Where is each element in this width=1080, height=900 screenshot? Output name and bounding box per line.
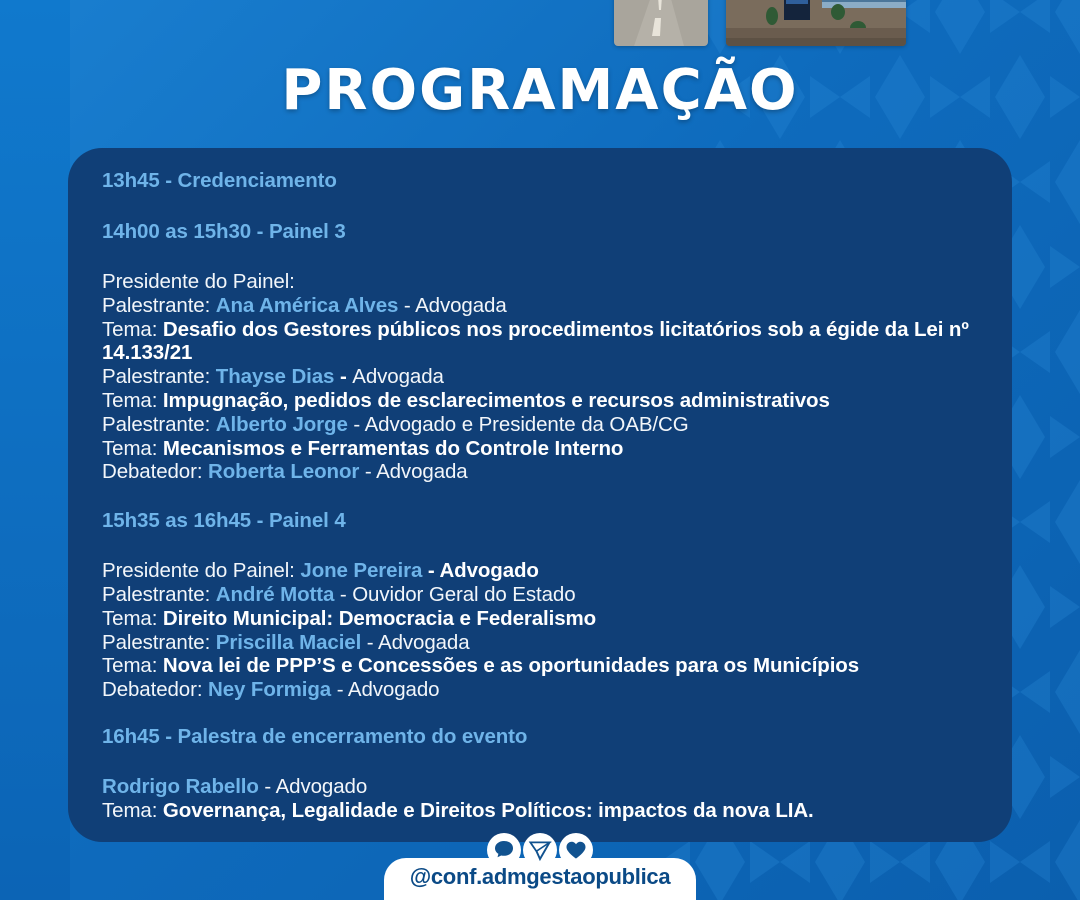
separator: - (348, 413, 365, 436)
role-label: Presidente do Painel: (102, 559, 300, 582)
footer: @conf.admgestaopublica (0, 840, 1080, 900)
debatedor-name: Ney Formiga (208, 678, 331, 701)
comment-icon[interactable] (487, 833, 521, 867)
theme-label: Tema: (102, 799, 163, 822)
send-icon[interactable] (523, 833, 557, 867)
speaker-name: André Motta (216, 583, 334, 606)
speaker-title: Advogada (378, 631, 470, 654)
encerramento-theme: Tema: Governança, Legalidade e Direitos … (102, 799, 978, 823)
separator: - (422, 559, 439, 582)
theme-label: Tema: (102, 437, 163, 460)
painel3-speaker-1: Palestrante: Ana América Alves - Advogad… (102, 294, 978, 318)
separator: - (398, 294, 415, 317)
separator: - (331, 678, 348, 701)
spacer (102, 484, 978, 508)
painel3-theme-1: Tema: Desafio dos Gestores públicos nos … (102, 318, 978, 366)
role-label: Palestrante: (102, 583, 216, 606)
encerramento-speaker: Rodrigo Rabello - Advogado (102, 775, 978, 799)
separator: - (259, 775, 276, 798)
speaker-title: Advogado (276, 775, 368, 798)
photo-strip (614, 0, 906, 46)
theme-text: Direito Municipal: Democracia e Federali… (163, 607, 596, 630)
presidente-title: Advogado (439, 559, 538, 582)
speaker-name: Alberto Jorge (216, 413, 348, 436)
role-label: Palestrante: (102, 294, 216, 317)
theme-label: Tema: (102, 654, 163, 677)
spacer (102, 534, 978, 559)
role-label: Palestrante: (102, 631, 216, 654)
road-photo (614, 0, 708, 46)
painel4-speaker-1: Palestrante: André Motta - Ouvidor Geral… (102, 583, 978, 607)
spacer (102, 702, 978, 724)
theme-text: Desafio dos Gestores públicos nos proced… (102, 318, 969, 365)
speaker-name: Thayse Dias (216, 365, 335, 388)
heading-encerramento: 16h45 - Palestra de encerramento do even… (102, 724, 978, 750)
label-text: Presidente do Painel: (102, 270, 295, 293)
painel3-theme-2: Tema: Impugnação, pedidos de esclarecime… (102, 389, 978, 413)
separator: - (361, 631, 378, 654)
speaker-title: Advogada (352, 365, 444, 388)
painel4-debatedor: Debatedor: Ney Formiga - Advogado (102, 678, 978, 702)
theme-label: Tema: (102, 389, 163, 412)
theme-text: Nova lei de PPP’S e Concessões e as opor… (163, 654, 859, 677)
painel3-speaker-3: Palestrante: Alberto Jorge - Advogado e … (102, 413, 978, 437)
page-title: PROGRAMAÇÃO (0, 58, 1080, 123)
painel4-theme-2: Tema: Nova lei de PPP’S e Concessões e a… (102, 654, 978, 678)
debatedor-name: Roberta Leonor (208, 460, 359, 483)
theme-text: Governança, Legalidade e Direitos Políti… (163, 799, 814, 822)
speaker-name: Ana América Alves (216, 294, 399, 317)
painel3-speaker-2: Palestrante: Thayse Dias - Advogada (102, 365, 978, 389)
presidente-name: Jone Pereira (300, 559, 422, 582)
background-left-band (0, 0, 70, 900)
painel3-debatedor: Debatedor: Roberta Leonor - Advogada (102, 460, 978, 484)
separator: - (334, 583, 352, 606)
speaker-title: Ouvidor Geral do Estado (352, 583, 575, 606)
speaker-title: Advogada (415, 294, 507, 317)
heart-icon[interactable] (559, 833, 593, 867)
debatedor-title: Advogada (376, 460, 468, 483)
painel4-theme-1: Tema: Direito Municipal: Democracia e Fe… (102, 607, 978, 631)
role-label: Palestrante: (102, 413, 216, 436)
schedule-panel: 13h45 - Credenciamento 14h00 as 15h30 - … (68, 148, 1012, 842)
role-label: Debatedor: (102, 678, 208, 701)
spacer (102, 194, 978, 219)
separator: - (334, 365, 352, 388)
painel4-presidente: Presidente do Painel: Jone Pereira - Adv… (102, 559, 978, 583)
plaza-photo (726, 0, 906, 46)
role-label: Debatedor: (102, 460, 208, 483)
painel4-speaker-2: Palestrante: Priscilla Maciel - Advogada (102, 631, 978, 655)
theme-label: Tema: (102, 318, 163, 341)
spacer (102, 750, 978, 775)
spacer (102, 245, 978, 270)
painel3-theme-3: Tema: Mecanismos e Ferramentas do Contro… (102, 437, 978, 461)
schedule-list: 13h45 - Credenciamento 14h00 as 15h30 - … (102, 168, 978, 823)
theme-text: Mecanismos e Ferramentas do Controle Int… (163, 437, 623, 460)
separator: - (359, 460, 376, 483)
theme-text: Impugnação, pedidos de esclarecimentos e… (163, 389, 830, 412)
speaker-name: Priscilla Maciel (216, 631, 361, 654)
role-label: Palestrante: (102, 365, 216, 388)
heading-credenciamento: 13h45 - Credenciamento (102, 168, 978, 194)
speaker-name: Rodrigo Rabello (102, 775, 259, 798)
heading-painel-4: 15h35 as 16h45 - Painel 4 (102, 508, 978, 534)
speaker-title: Advogado e Presidente da OAB/CG (365, 413, 689, 436)
social-icons (487, 833, 593, 867)
theme-label: Tema: (102, 607, 163, 630)
debatedor-title: Advogado (348, 678, 440, 701)
heading-painel-3: 14h00 as 15h30 - Painel 3 (102, 219, 978, 245)
painel3-presidente-label: Presidente do Painel: (102, 270, 978, 294)
